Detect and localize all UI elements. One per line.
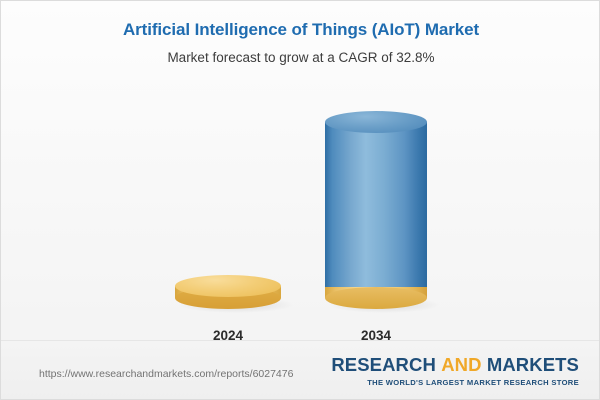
cylinder-body [325,122,427,298]
logo-wordmark: RESEARCH AND MARKETS [331,355,579,375]
footer-bar: https://www.researchandmarkets.com/repor… [1,340,600,399]
chart-header: Artificial Intelligence of Things (AIoT)… [1,19,600,68]
logo-tagline: THE WORLD'S LARGEST MARKET RESEARCH STOR… [331,377,579,388]
logo-word-and: AND [441,354,481,375]
chart-plot-area: USD 9.8 billion 2024 USD 169.4 billion 2… [1,81,600,343]
cylinder-top-ellipse [325,111,427,133]
cylinder-bottom-ellipse [325,287,427,309]
logo-word-markets: MARKETS [487,354,579,375]
cylinder-top-ellipse [175,275,281,297]
aiot-market-infographic: Artificial Intelligence of Things (AIoT)… [0,0,600,400]
report-url[interactable]: https://www.researchandmarkets.com/repor… [39,368,293,380]
cylinder-bar-2024[interactable] [175,275,281,309]
research-and-markets-logo[interactable]: RESEARCH AND MARKETS THE WORLD'S LARGEST… [331,355,579,388]
chart-subtitle: Market forecast to grow at a CAGR of 32.… [1,48,600,68]
chart-title: Artificial Intelligence of Things (AIoT)… [1,19,600,41]
logo-word-research: RESEARCH [331,354,436,375]
cylinder-bar-2034[interactable] [325,111,427,309]
